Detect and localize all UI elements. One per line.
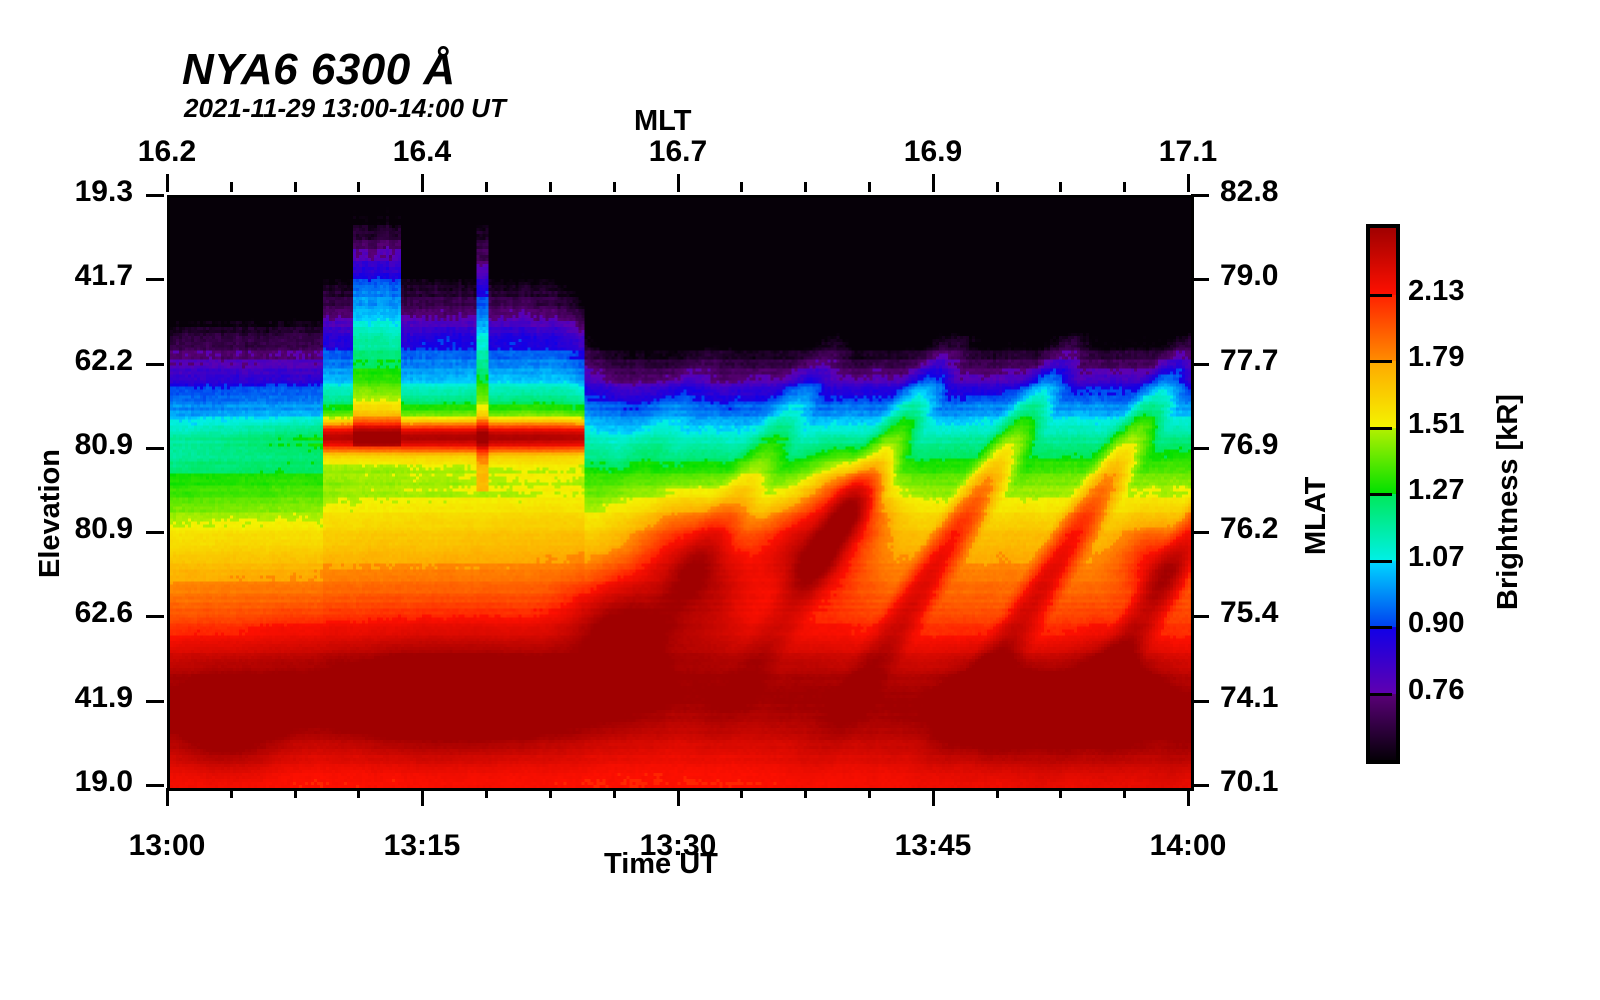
right-axis-major-tick [1191,447,1209,450]
x-axis-major-tick [677,788,680,806]
colorbar-band-4 [1370,428,1396,495]
colorbar-band-separator [1366,294,1392,297]
x-axis-tick-label: 14:00 [1150,829,1227,863]
x-axis-minor-tick [1123,788,1126,798]
left-axis-major-tick [146,615,164,618]
colorbar-band-separator [1366,560,1392,563]
x-axis-minor-tick [294,788,297,798]
x-axis-minor-tick [357,788,360,798]
x-axis-tick-label: 13:30 [640,829,717,863]
top-axis-tick-label: 16.4 [393,135,451,169]
left-axis-major-tick [146,700,164,703]
left-axis-major-tick [146,447,164,450]
colorbar-band-6 [1370,295,1396,362]
left-axis-major-tick [146,194,164,197]
left-axis-tick-label: 80.9 [75,512,133,546]
top-axis-major-tick [166,174,169,192]
top-axis-tick-label: 17.1 [1159,135,1217,169]
top-axis-major-tick [1187,174,1190,192]
right-axis-tick-label: 82.8 [1220,175,1278,209]
top-axis-tick-label: 16.2 [138,135,196,169]
page-subtitle: 2021-11-29 13:00-14:00 UT [184,93,506,124]
right-axis-tick-label: 70.1 [1220,765,1278,799]
colorbar-band-separator [1366,493,1392,496]
colorbar-tick-label: 1.07 [1408,541,1464,574]
top-axis-minor-tick [485,182,488,192]
left-axis-major-tick [146,363,164,366]
top-axis-tick-label: 16.7 [649,135,707,169]
colorbar-band-separator [1366,427,1392,430]
colorbar-tick-label: 2.13 [1408,275,1464,308]
right-axis-major-tick [1191,194,1209,197]
colorbar-tick-label: 0.76 [1408,674,1464,707]
top-axis-minor-tick [1123,182,1126,192]
top-axis-minor-tick [549,182,552,192]
top-axis-minor-tick [996,182,999,192]
colorbar-tick-label: 1.27 [1408,474,1464,507]
left-axis-tick-label: 62.6 [75,596,133,630]
x-axis-tick-label: 13:00 [129,829,206,863]
x-axis-major-tick [1187,788,1190,806]
x-axis-minor-tick [230,788,233,798]
left-axis-tick-label: 19.0 [75,765,133,799]
x-axis-minor-tick [613,788,616,798]
left-axis-major-tick [146,531,164,534]
x-axis-tick-label: 13:15 [384,829,461,863]
left-axis-tick-label: 41.9 [75,681,133,715]
top-axis-minor-tick [230,182,233,192]
colorbar-tick-label: 1.51 [1408,408,1464,441]
x-axis-minor-tick [549,788,552,798]
top-axis-minor-tick [357,182,360,192]
keogram-image [170,198,1191,788]
x-axis-minor-tick [485,788,488,798]
right-axis-major-tick [1191,700,1209,703]
colorbar-band-1 [1370,627,1396,694]
top-axis-major-tick [932,174,935,192]
left-axis-tick-label: 19.3 [75,175,133,209]
top-axis-minor-tick [868,182,871,192]
right-axis-tick-label: 76.9 [1220,428,1278,462]
right-axis-tick-label: 79.0 [1220,259,1278,293]
x-axis-major-tick [421,788,424,806]
colorbar-band-separator [1366,626,1392,629]
colorbar-label: Brightness [kR] [1492,394,1525,610]
keogram-figure: NYA6 6300 Å 2021-11-29 13:00-14:00 UT ML… [0,0,1600,1000]
right-axis-major-tick [1191,784,1209,787]
x-axis-tick-label: 13:45 [895,829,972,863]
colorbar-tick-label: 1.79 [1408,341,1464,374]
left-axis-tick-label: 80.9 [75,428,133,462]
top-axis-tick-label: 16.9 [904,135,962,169]
right-axis-major-tick [1191,531,1209,534]
x-axis-minor-tick [868,788,871,798]
right-axis-major-tick [1191,278,1209,281]
top-axis-minor-tick [740,182,743,192]
keogram-plot-area [167,195,1194,791]
x-axis-major-tick [932,788,935,806]
top-axis-minor-tick [804,182,807,192]
left-axis-major-tick [146,278,164,281]
top-axis-major-tick [421,174,424,192]
right-axis-major-tick [1191,615,1209,618]
x-axis-minor-tick [804,788,807,798]
colorbar-band-separator [1366,693,1392,696]
top-axis-minor-tick [294,182,297,192]
colorbar-band-2 [1370,561,1396,628]
right-axis-tick-label: 76.2 [1220,512,1278,546]
top-axis-label: MLT [634,105,691,138]
colorbar-band-5 [1370,361,1396,428]
right-axis-major-tick [1191,363,1209,366]
left-axis-major-tick [146,784,164,787]
colorbar-band-0 [1370,694,1396,761]
x-axis-minor-tick [740,788,743,798]
top-axis-major-tick [677,174,680,192]
top-axis-minor-tick [613,182,616,192]
colorbar-band-3 [1370,494,1396,561]
colorbar-band-separator [1366,360,1392,363]
x-axis-major-tick [166,788,169,806]
left-axis-tick-label: 62.2 [75,344,133,378]
right-axis-tick-label: 75.4 [1220,596,1278,630]
x-axis-minor-tick [1059,788,1062,798]
top-axis-minor-tick [1059,182,1062,192]
right-axis-label: MLAT [1300,477,1333,555]
colorbar-band-7 [1370,228,1396,295]
right-axis-tick-label: 77.7 [1220,344,1278,378]
left-axis-label: Elevation [34,449,67,578]
colorbar-tick-label: 0.90 [1408,607,1464,640]
x-axis-minor-tick [996,788,999,798]
page-title: NYA6 6300 Å [182,45,456,95]
left-axis-tick-label: 41.7 [75,259,133,293]
right-axis-tick-label: 74.1 [1220,681,1278,715]
